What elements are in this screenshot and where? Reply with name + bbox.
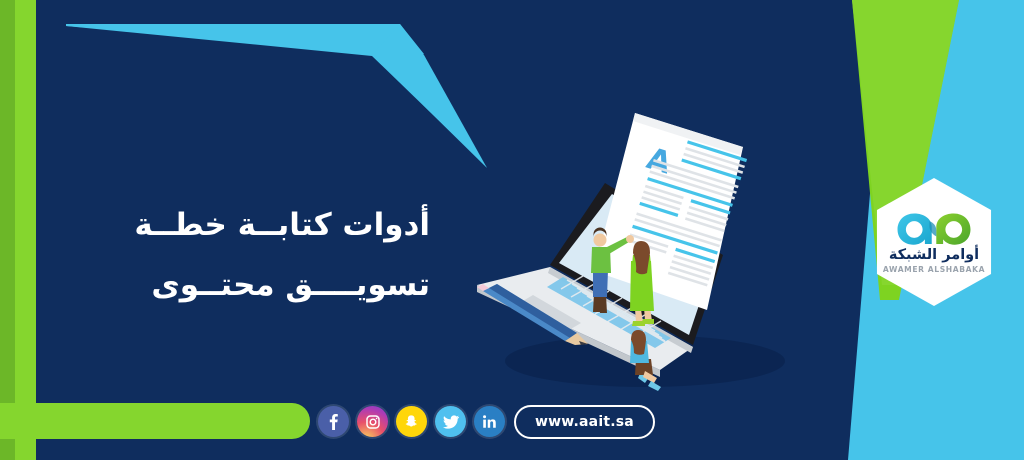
logo-mark-icon — [896, 210, 972, 246]
headline-line-2: تسويــــق محتــوى — [70, 256, 430, 316]
website-url-label: www.aait.sa — [535, 414, 634, 430]
marketing-banner: A — [0, 0, 1024, 460]
linkedin-glyph — [482, 414, 497, 429]
instagram-icon[interactable] — [357, 406, 388, 437]
linkedin-icon[interactable] — [474, 406, 505, 437]
facebook-glyph — [329, 413, 338, 430]
green-accent-bar — [0, 403, 310, 439]
instagram-glyph — [365, 414, 381, 430]
logo-latin-name: AWAMER ALSHABAKA — [883, 265, 985, 274]
website-url-button[interactable]: www.aait.sa — [514, 405, 655, 439]
logo-arabic-name: أوامر الشبكة — [889, 248, 979, 264]
laptop-document-illustration: A — [455, 95, 815, 415]
page-title: أدوات كتابــة خطــة تسويــــق محتــوى — [70, 196, 430, 315]
social-links — [318, 406, 505, 437]
headline-line-1: أدوات كتابــة خطــة — [70, 196, 430, 256]
twitter-glyph — [443, 415, 459, 429]
facebook-icon[interactable] — [318, 406, 349, 437]
twitter-icon[interactable] — [435, 406, 466, 437]
snapchat-glyph — [404, 414, 419, 429]
snapchat-icon[interactable] — [396, 406, 427, 437]
cyan-chevron-decoration — [0, 0, 520, 200]
